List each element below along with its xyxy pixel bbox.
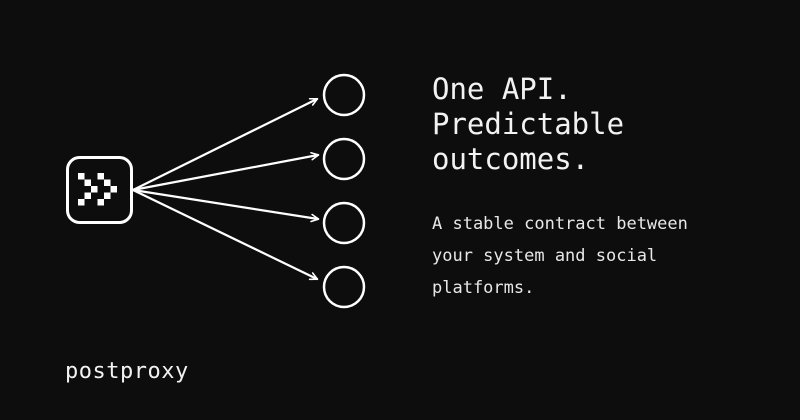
target-node-2 <box>324 139 364 179</box>
target-nodes <box>324 75 364 307</box>
logo-frame <box>68 158 132 223</box>
chevron-double-right-pixel-icon <box>78 173 117 206</box>
page-headline: One API. Predictable outcomes. <box>432 72 772 177</box>
page-subcopy: A stable contract between your system an… <box>432 208 762 304</box>
brand-wordmark: postproxy <box>65 358 189 386</box>
connector-line-1 <box>133 99 317 190</box>
target-node-1 <box>324 75 364 115</box>
connector-line-2 <box>133 155 318 190</box>
api-logo-node <box>68 158 132 223</box>
target-node-3 <box>324 203 364 243</box>
hero-text-block: One API. Predictable outcomes. <box>432 72 772 177</box>
target-node-4 <box>324 267 364 307</box>
promo-canvas: One API. Predictable outcomes. A stable … <box>0 0 800 420</box>
connector-lines <box>133 99 318 279</box>
